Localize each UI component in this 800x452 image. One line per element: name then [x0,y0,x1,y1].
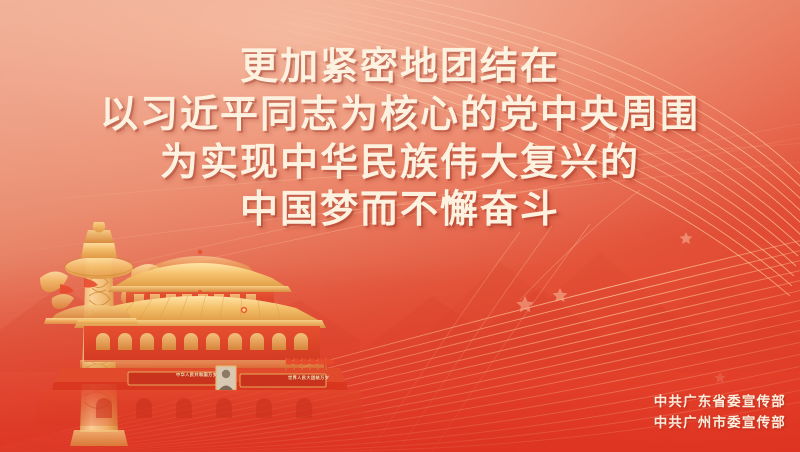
headline-line-4: 中国梦而不懈奋斗 [0,191,800,230]
monument-svg [0,222,400,452]
credit-line-2: 中共广州市委宣传部 [654,413,786,434]
headline-line-3: 为实现中华民族伟大复兴的 [0,144,800,183]
plaque-left-text: 中华人民共和国万岁 [176,372,217,378]
monument-illustration: 中华人民共和国万岁 世界人民大团结万岁 [0,222,400,452]
headline-block: 更加紧密地团结在 以习近平同志为核心的党中央周围 为实现中华民族伟大复兴的 中国… [0,48,800,230]
poster-canvas: 中华人民共和国万岁 世界人民大团结万岁 更加紧密地团结在 以习近平同志为核心的党… [0,0,800,452]
credit-line-1: 中共广东省委宣传部 [654,392,786,413]
credit-block: 中共广东省委宣传部 中共广州市委宣传部 [654,392,786,434]
headline-line-2: 以习近平同志为核心的党中央周围 [0,96,800,135]
portrait [216,366,236,390]
headline-line-1: 更加紧密地团结在 [0,48,800,87]
plaque-right-text: 世界人民大团结万岁 [288,375,329,381]
